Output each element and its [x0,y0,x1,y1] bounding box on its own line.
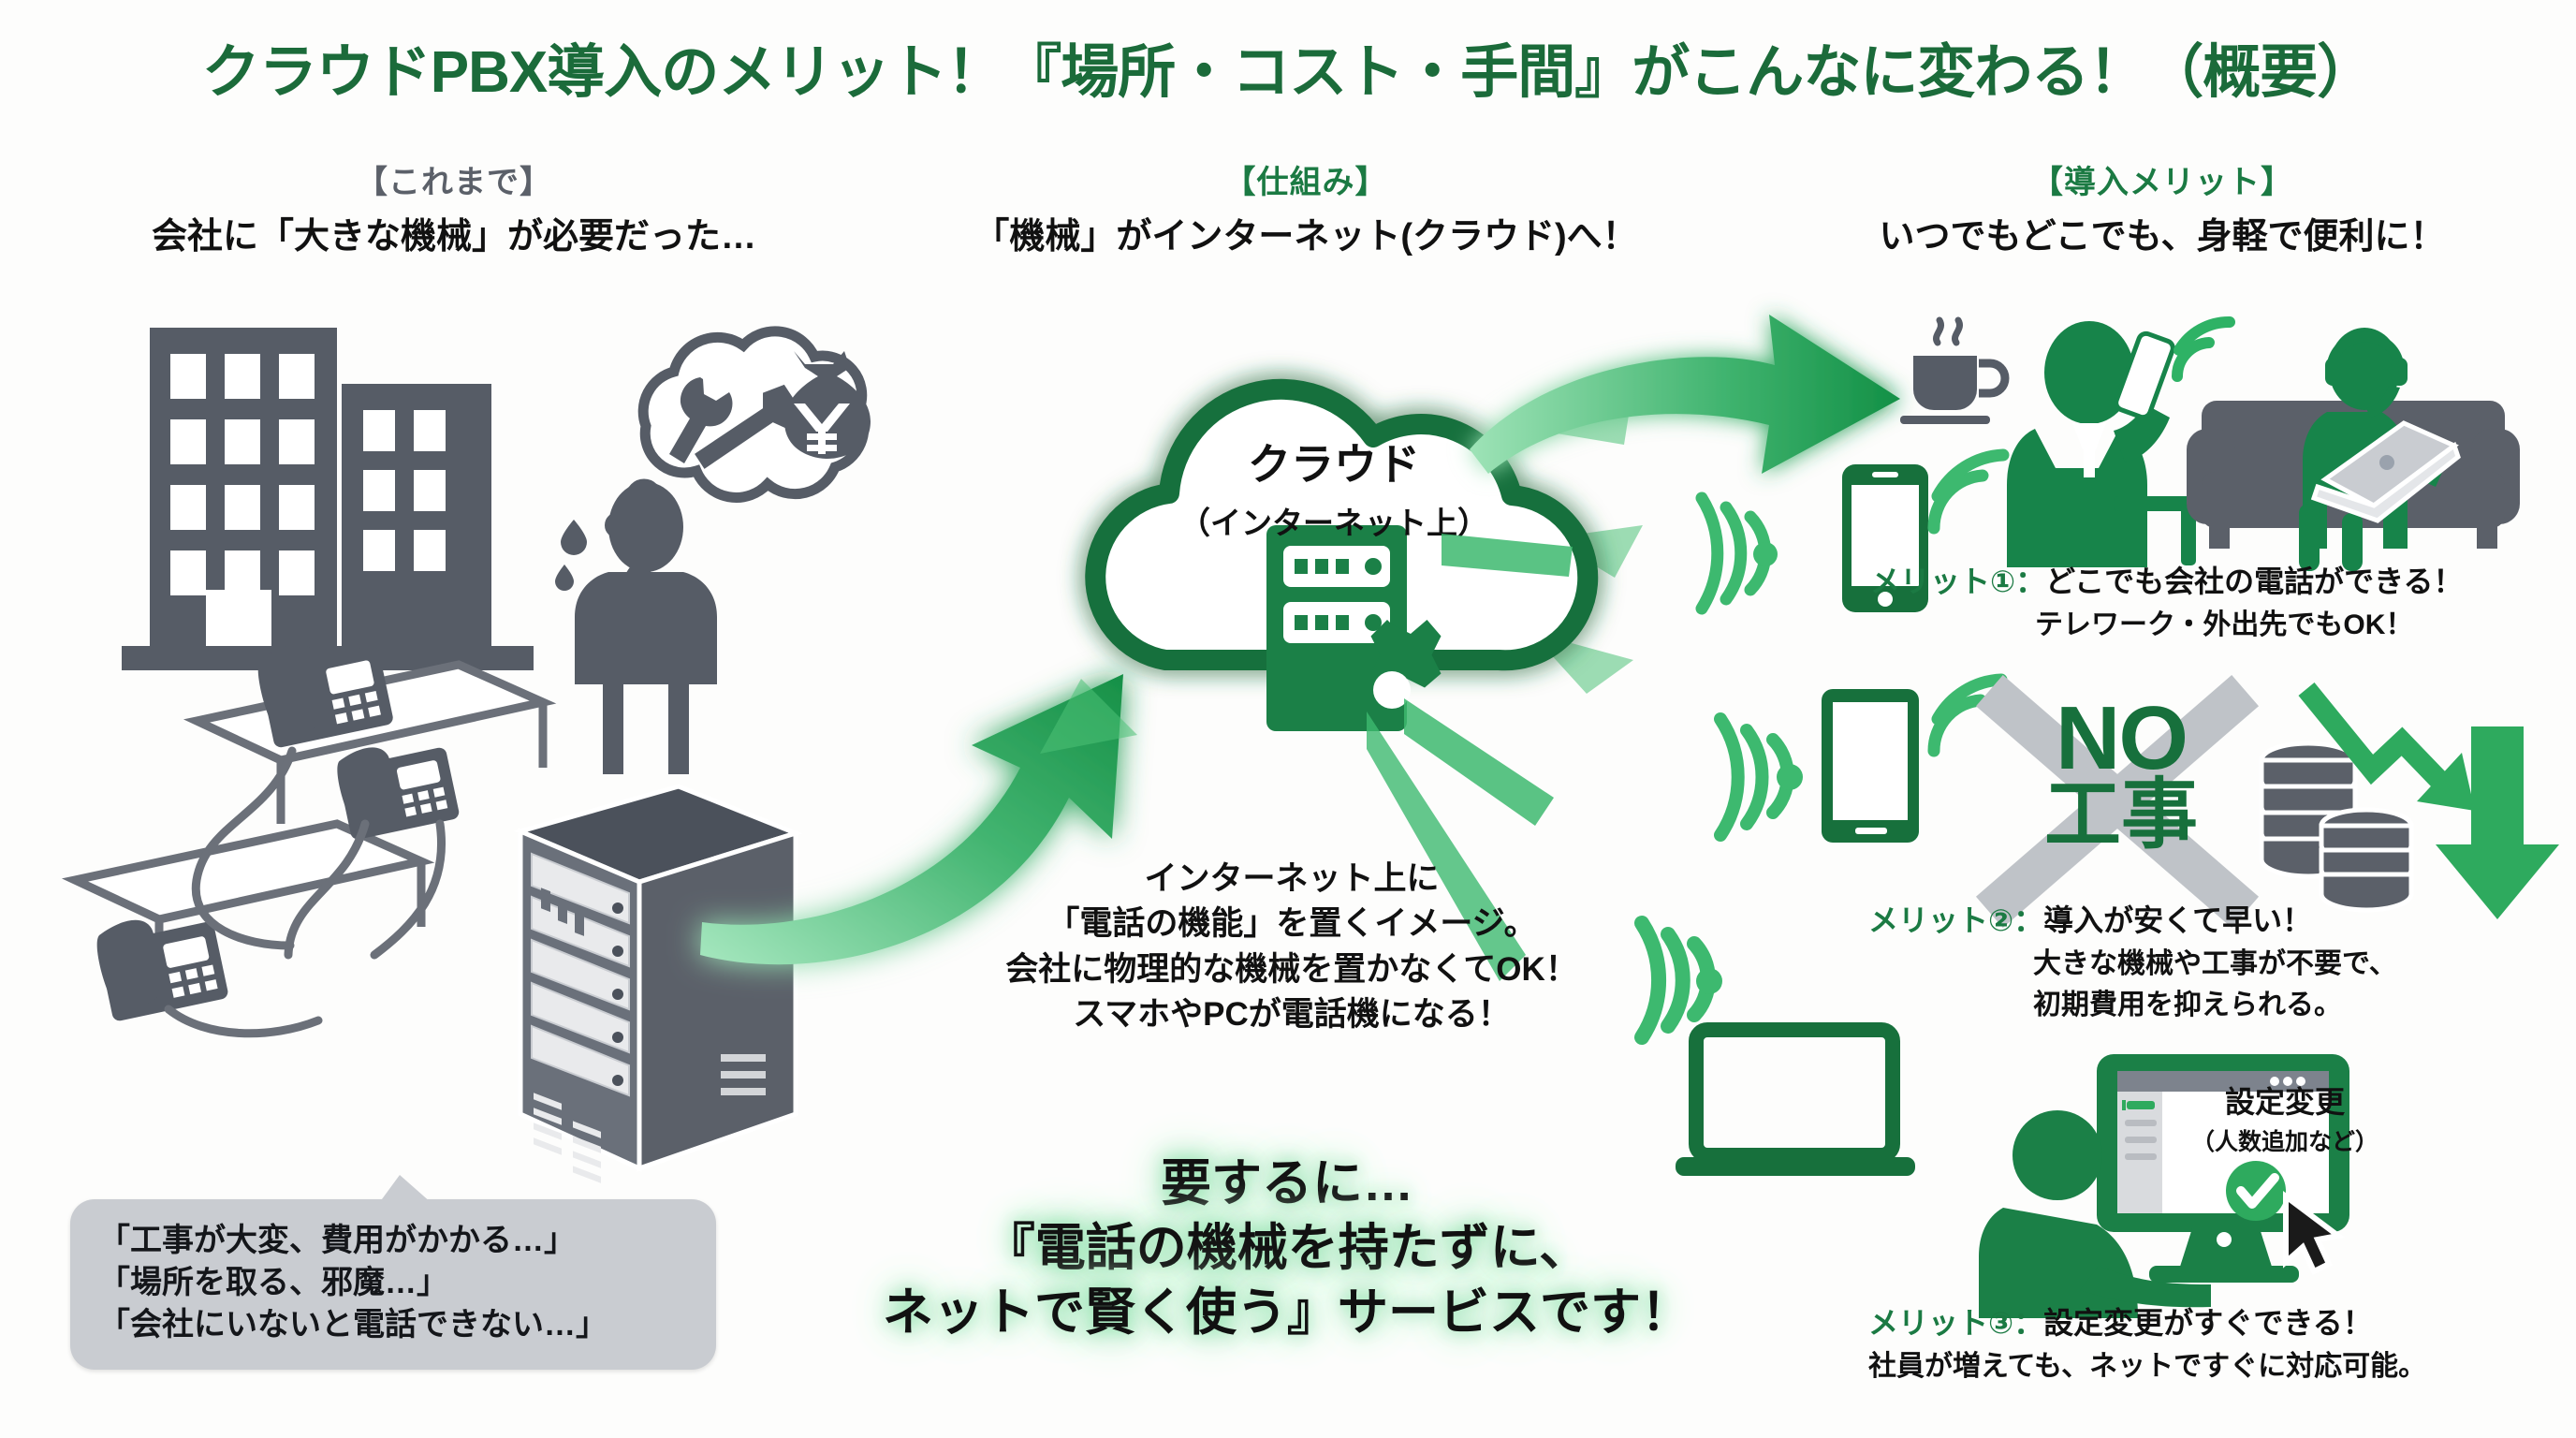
column-kicker-before: 【これまで】 [19,165,889,201]
center-note-line: スマホやPCが電話機になる！ [936,992,1647,1037]
cloud-beam-icon [1442,496,1722,609]
center-note-line: インターネット上に [936,857,1647,902]
merit-2: メリット②：導入が安くて早い！ 大きな機械や工事が不要で、 初期費用を抑えられる… [1868,897,2576,1022]
pain-point-line: 「会社にいないと電話できない…」 [98,1304,692,1346]
column-subtitle-mechanism: 「機械」がインターネット(クラウド)へ！ [871,207,1741,258]
infographic-canvas: クラウドPBX導入のメリット！『場所・コスト・手間』がこんなに変わる！（概要） … [0,0,2576,1438]
column-header-before: 【これまで】 会社に「大きな機械」が必要だった… [19,165,889,258]
merit-2-tag: メリット②： [1868,903,2043,937]
column-kicker-mechanism: 【仕組み】 [871,165,1741,201]
no-construction-line2: 工事 [1981,780,2261,850]
summary-callout: 要するに… 『電話の機械を持たずに、 ネットで賢く使う』サービスです！ [768,1152,1807,1345]
merit-1-tag: メリット①： [1870,565,2045,598]
merit-2-headline: メリット②：導入が安くて早い！ [1868,897,2576,940]
merit-1-headline: メリット①：どこでも会社の電話ができる！ [1870,558,2576,601]
no-construction-line1: NO [1981,697,2261,780]
down-arrow-icon [2434,726,2565,923]
column-header-mechanism: 【仕組み】 「機械」がインターネット(クラウド)へ！ [871,165,1741,258]
sweat-drop-icon [555,520,587,591]
merit-2-line-2: 大きな機械や工事が不要で、 [1868,940,2576,981]
column-kicker-merits: 【導入メリット】 [1760,165,2565,201]
center-note-line: 会社に物理的な機械を置かなくてOK！ [936,947,1647,992]
pain-points-speech-bubble: 「工事が大変、費用がかかる…」 「場所を取る、邪魔…」 「会社にいないと電話でき… [70,1199,716,1370]
merit-1-line-2: テレワーク・外出先でもOK！ [1870,601,2576,642]
monitor-screen-subtitle: （人数追加など） [2149,1123,2421,1157]
column-subtitle-merits: いつでもどこでも、身軽で便利に！ [1760,207,2565,258]
merit-3-tag: メリット③： [1868,1306,2043,1340]
summary-line: 『電話の機械を持たずに、 [768,1216,1807,1281]
pain-point-line: 「工事が大変、費用がかかる…」 [98,1220,692,1262]
tablet-icon [1816,683,1928,852]
merit-3: メリット③：設定変更がすぐできる！ 社員が増えても、ネットですぐに対応可能。 [1868,1299,2576,1384]
monitor-screen-title: 設定変更 [2149,1078,2421,1122]
no-construction-badge: NO 工事 [1981,697,2261,851]
merit-2-line-1: 導入が安くて早い！ [2043,903,2312,937]
merit-3-headline: メリット③：設定変更がすぐできる！ [1868,1299,2576,1343]
summary-line: ネットで賢く使う』サービスです！ [768,1281,1807,1345]
office-building-icon [112,309,599,702]
page-title: クラウドPBX導入のメリット！『場所・コスト・手間』がこんなに変わる！（概要） [0,24,2576,109]
center-note-line: 「電話の機能」を置くイメージ。 [936,902,1647,946]
monitor-screen-label: 設定変更 （人数追加など） [2149,1078,2421,1157]
woman-headset-laptop-sofa-icon [2187,330,2561,582]
summary-line: 要するに… [768,1152,1807,1216]
center-explanation: インターネット上に 「電話の機能」を置くイメージ。 会社に物理的な機械を置かなく… [936,857,1647,1037]
merit-3-line-1: 設定変更がすぐできる！ [2043,1306,2373,1340]
merit-1: メリット①：どこでも会社の電話ができる！ テレワーク・外出先でもOK！ [1870,558,2576,642]
merit-3-line-2: 社員が増えても、ネットですぐに対応可能。 [1868,1343,2576,1384]
merit-2-line-3: 初期費用を抑えられる。 [1868,981,2576,1022]
speech-bubble-tail [379,1175,432,1203]
check-circle-icon [2226,1161,2286,1221]
column-subtitle-before: 会社に「大きな機械」が必要だった… [19,207,889,258]
column-header-merits: 【導入メリット】 いつでもどこでも、身軽で便利に！ [1760,165,2565,258]
pain-point-line: 「場所を取る、邪魔…」 [98,1262,692,1304]
merit-1-line-1: どこでも会社の電話ができる！ [2045,565,2463,598]
